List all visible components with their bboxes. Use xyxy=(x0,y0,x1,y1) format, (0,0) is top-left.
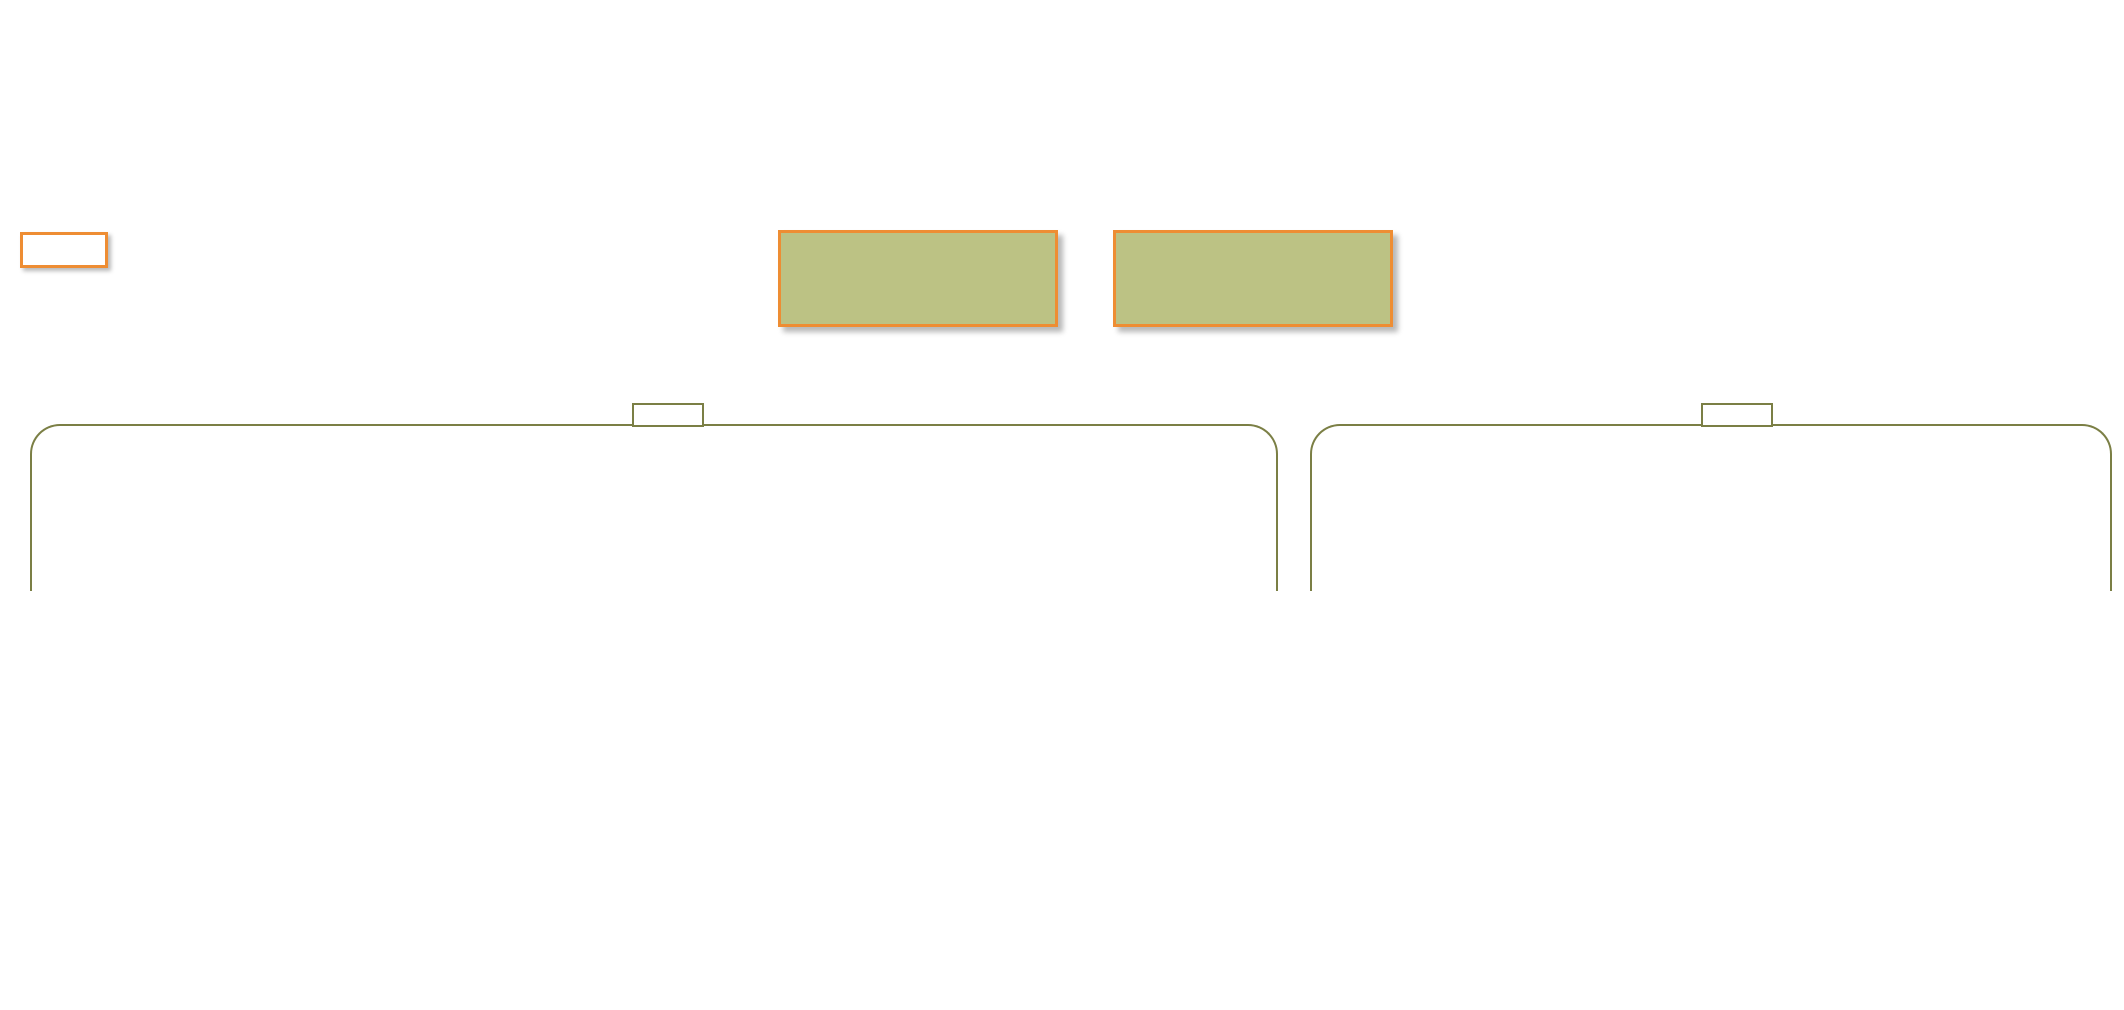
group-bracket-frame xyxy=(30,424,1278,591)
program-dedicated-roles-label xyxy=(632,403,704,427)
medical-directorships-list xyxy=(30,785,230,834)
legend xyxy=(20,232,132,268)
clinical-program-director-box[interactable] xyxy=(778,230,1058,327)
group-bracket-frame xyxy=(1310,424,2112,591)
administrative-director-box[interactable] xyxy=(1113,230,1393,327)
dyad-leadership-description xyxy=(1424,226,2044,237)
legend-swatch-box xyxy=(20,232,108,268)
system-shared-roles-label xyxy=(1701,403,1773,427)
